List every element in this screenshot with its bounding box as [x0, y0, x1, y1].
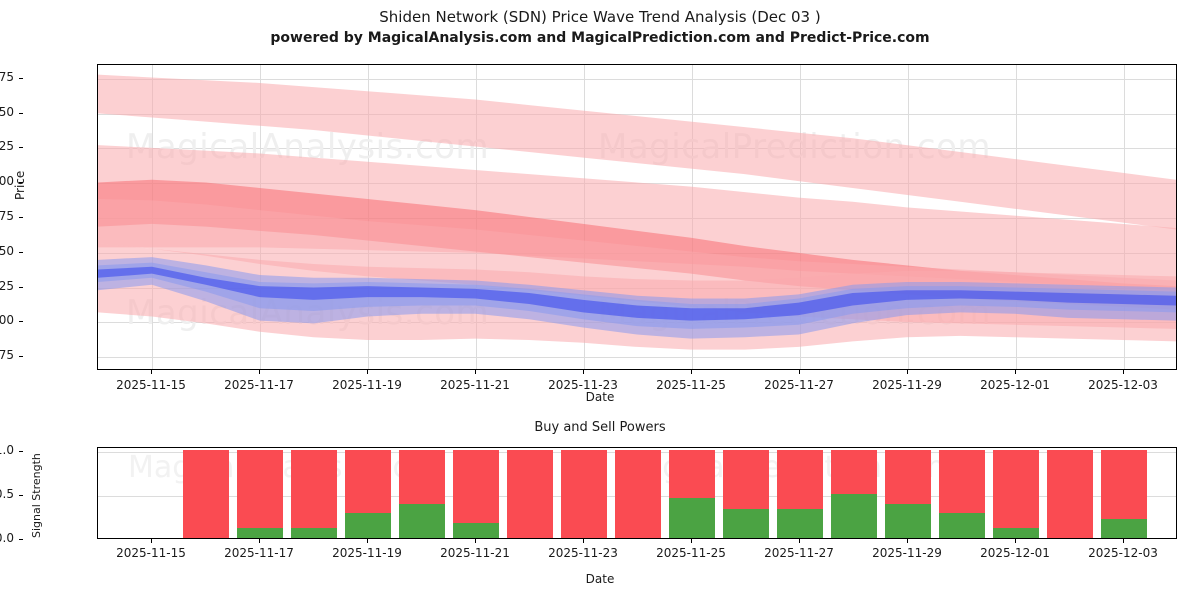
- buy-power-segment: [453, 523, 498, 538]
- price-y-tickmark: [19, 78, 23, 79]
- power-x-tickmark: [691, 539, 692, 543]
- sell-power-segment: [615, 450, 660, 538]
- power-bar[interactable]: [399, 448, 444, 538]
- power-bar[interactable]: [669, 448, 714, 538]
- price-x-tickmark: [151, 370, 152, 374]
- power-x-tickmark: [1015, 539, 1016, 543]
- power-y-tick-label: 1.0: [0, 443, 14, 457]
- price-y-tick-label: 0.0175: [0, 348, 14, 362]
- price-y-tickmark: [19, 287, 23, 288]
- sell-power-segment: [507, 450, 552, 538]
- buy-power-segment: [831, 494, 876, 538]
- buy-power-segment: [1101, 519, 1146, 538]
- power-x-tickmark: [259, 539, 260, 543]
- power-bar[interactable]: [345, 448, 390, 538]
- price-x-axis-label: Date: [0, 390, 1200, 404]
- power-bar[interactable]: [831, 448, 876, 538]
- power-bar[interactable]: [237, 448, 282, 538]
- sell-power-segment: [993, 450, 1038, 538]
- power-bar[interactable]: [1047, 448, 1092, 538]
- price-y-tickmark: [19, 252, 23, 253]
- price-x-tickmark: [367, 370, 368, 374]
- buy-power-segment: [345, 513, 390, 538]
- price-y-tick-label: 0.0275: [0, 209, 14, 223]
- buy-power-segment: [723, 509, 768, 538]
- price-x-tickmark: [907, 370, 908, 374]
- power-chart-title: Buy and Sell Powers: [0, 420, 1200, 435]
- price-x-tickmark: [259, 370, 260, 374]
- buy-power-segment: [885, 504, 930, 538]
- power-x-tickmark: [799, 539, 800, 543]
- buy-power-segment: [291, 528, 336, 538]
- power-bar[interactable]: [615, 448, 660, 538]
- sell-power-segment: [237, 450, 282, 538]
- price-x-tickmark: [475, 370, 476, 374]
- power-x-tick-label: 2025-12-01: [980, 546, 1050, 560]
- price-y-tick-label: 0.0225: [0, 279, 14, 293]
- power-y-tickmark: [19, 539, 23, 540]
- price-y-tickmark: [19, 147, 23, 148]
- power-x-tick-label: 2025-11-21: [440, 546, 510, 560]
- price-y-tick-label: 0.0250: [0, 244, 14, 258]
- power-x-tick-label: 2025-11-15: [116, 546, 186, 560]
- power-y-tickmark: [19, 495, 23, 496]
- power-x-tick-label: 2025-11-25: [656, 546, 726, 560]
- price-y-tick-label: 0.0300: [0, 174, 14, 188]
- sell-power-segment: [183, 450, 228, 538]
- power-bar[interactable]: [183, 448, 228, 538]
- power-x-tickmark: [151, 539, 152, 543]
- price-y-tickmark: [19, 113, 23, 114]
- page-title: Shiden Network (SDN) Price Wave Trend An…: [0, 8, 1200, 26]
- power-x-tick-label: 2025-11-17: [224, 546, 294, 560]
- power-bar[interactable]: [993, 448, 1038, 538]
- power-x-tickmark: [367, 539, 368, 543]
- price-y-tickmark: [19, 217, 23, 218]
- buy-power-segment: [993, 528, 1038, 538]
- power-bar[interactable]: [723, 448, 768, 538]
- power-y-tick-label: 0.5: [0, 487, 14, 501]
- watermark-bottom-left: MagicalAnalysis.com: [128, 450, 440, 485]
- power-x-tick-label: 2025-11-27: [764, 546, 834, 560]
- price-y-tickmark: [19, 356, 23, 357]
- price-axis-label: Price: [13, 171, 27, 200]
- power-x-tick-label: 2025-12-03: [1088, 546, 1158, 560]
- price-x-tickmark: [691, 370, 692, 374]
- price-y-tick-label: 0.0375: [0, 70, 14, 84]
- buy-power-segment: [777, 509, 822, 538]
- price-x-tickmark: [1015, 370, 1016, 374]
- price-y-tick-label: 0.0200: [0, 313, 14, 327]
- chart-page: Shiden Network (SDN) Price Wave Trend An…: [0, 0, 1200, 600]
- power-plot-area: MagicalAnalysis.com MagicalPrediction.co…: [97, 447, 1177, 539]
- signal-axis-label: Signal Strength: [30, 453, 43, 538]
- power-y-tickmark: [19, 451, 23, 452]
- power-bar[interactable]: [777, 448, 822, 538]
- power-x-tickmark: [907, 539, 908, 543]
- buy-power-segment: [399, 504, 444, 538]
- sell-power-segment: [1047, 450, 1092, 538]
- power-x-axis-label: Date: [0, 572, 1200, 586]
- buy-power-segment: [939, 513, 984, 538]
- power-x-tickmark: [475, 539, 476, 543]
- power-bar[interactable]: [561, 448, 606, 538]
- price-y-tick-label: 0.0350: [0, 105, 14, 119]
- power-x-tick-label: 2025-11-29: [872, 546, 942, 560]
- power-x-tickmark: [1123, 539, 1124, 543]
- price-y-tickmark: [19, 321, 23, 322]
- buy-power-segment: [669, 498, 714, 538]
- sell-power-segment: [561, 450, 606, 538]
- page-subtitle: powered by MagicalAnalysis.com and Magic…: [0, 30, 1200, 46]
- buy-power-segment: [237, 528, 282, 538]
- power-bar[interactable]: [885, 448, 930, 538]
- power-bar[interactable]: [453, 448, 498, 538]
- power-bar[interactable]: [939, 448, 984, 538]
- price-wave-bands: [98, 65, 1176, 369]
- price-plot-area: MagicalAnalysis.com MagicalPrediction.co…: [97, 64, 1177, 370]
- sell-power-segment: [291, 450, 336, 538]
- power-bar[interactable]: [507, 448, 552, 538]
- price-x-tickmark: [583, 370, 584, 374]
- power-bar[interactable]: [291, 448, 336, 538]
- price-x-tickmark: [799, 370, 800, 374]
- power-x-tick-label: 2025-11-23: [548, 546, 618, 560]
- price-x-tickmark: [1123, 370, 1124, 374]
- power-y-tick-label: 0.0: [0, 531, 14, 545]
- power-bar[interactable]: [1101, 448, 1146, 538]
- power-x-tick-label: 2025-11-19: [332, 546, 402, 560]
- price-y-tick-label: 0.0325: [0, 139, 14, 153]
- price-y-tickmark: [19, 182, 23, 183]
- power-x-tickmark: [583, 539, 584, 543]
